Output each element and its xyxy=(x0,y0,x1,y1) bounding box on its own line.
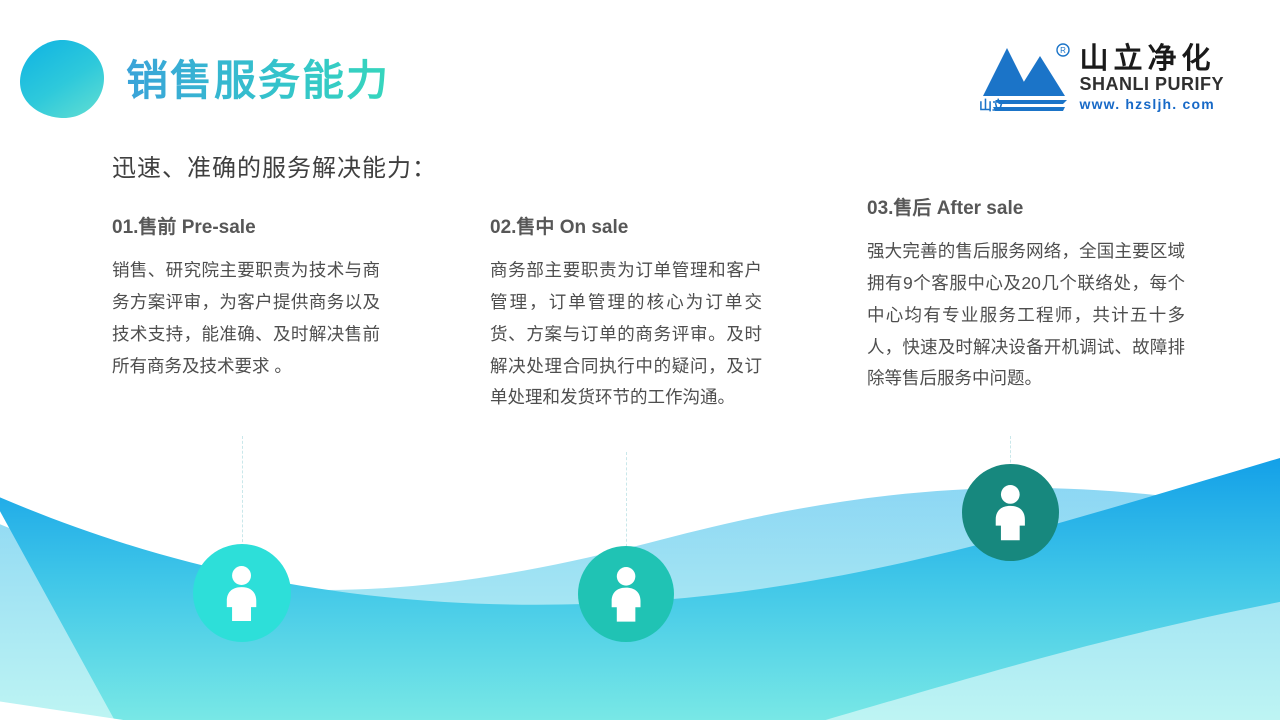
logo-website-url[interactable]: www. hzsljh. com xyxy=(1079,96,1214,112)
section-subtitle: 迅速、准确的服务解决能力： xyxy=(112,148,437,183)
header-blob-icon xyxy=(18,38,106,120)
column-heading-pre-sale: 01.售前 Pre-sale xyxy=(112,212,380,239)
svg-text:山立: 山立 xyxy=(979,98,1005,113)
slide-root: 销售服务能力 R 山立 山立净化 SHANLI PURIFY www. hzsl xyxy=(0,0,1280,720)
connector-line-2 xyxy=(626,452,627,552)
column-body-pre-sale: 销售、研究院主要职责为技术与商务方案评审，为客户提供商务以及技术支持，能准确、及… xyxy=(112,255,380,382)
badge-after-sale[interactable] xyxy=(962,464,1059,561)
column-after-sale: 03.售后 After sale 强大完善的售后服务网络，全国主要区域拥有9个客… xyxy=(867,193,1185,395)
column-heading-after-sale: 03.售后 After sale xyxy=(867,193,1185,220)
logo-company-name-en: SHANLI PURIFY xyxy=(1079,75,1224,95)
column-on-sale: 02.售中 On sale 商务部主要职责为订单管理和客户管理，订单管理的核心为… xyxy=(490,212,762,414)
person-icon xyxy=(219,565,264,622)
connector-line-1 xyxy=(242,436,243,552)
page-title: 销售服务能力 xyxy=(126,58,390,104)
column-pre-sale: 01.售前 Pre-sale 销售、研究院主要职责为技术与商务方案评审，为客户提… xyxy=(112,212,380,382)
company-logo: R 山立 山立净化 SHANLI PURIFY www. hzsljh. com xyxy=(977,42,1224,114)
logo-company-name-cn: 山立净化 xyxy=(1079,44,1215,74)
logo-text-block: 山立净化 SHANLI PURIFY www. hzsljh. com xyxy=(1079,44,1224,112)
column-heading-on-sale: 02.售中 On sale xyxy=(490,212,762,239)
svg-text:R: R xyxy=(1061,46,1067,55)
badge-pre-sale[interactable] xyxy=(193,544,291,642)
badge-on-sale[interactable] xyxy=(578,546,674,642)
column-body-on-sale: 商务部主要职责为订单管理和客户管理，订单管理的核心为订单交货、方案与订单的商务评… xyxy=(490,255,762,414)
person-icon xyxy=(604,566,648,622)
logo-mountain-icon: R 山立 xyxy=(977,42,1073,114)
column-body-after-sale: 强大完善的售后服务网络，全国主要区域拥有9个客服中心及20几个联络处，每个中心均… xyxy=(867,236,1185,395)
person-icon xyxy=(988,484,1033,540)
